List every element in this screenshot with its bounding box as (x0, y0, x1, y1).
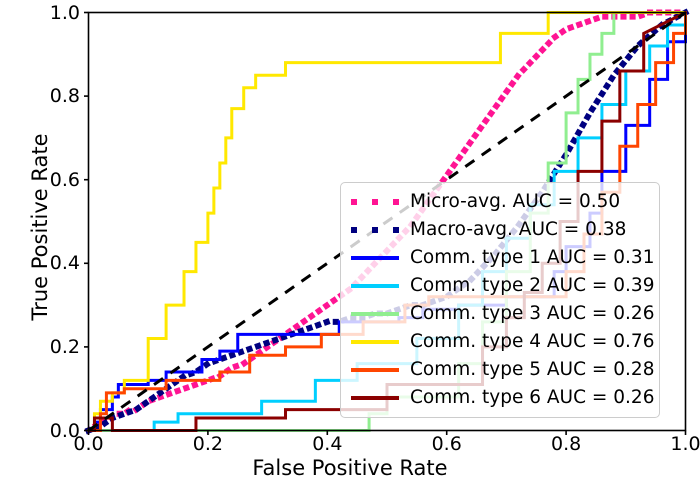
legend-label: Comm. type 3 AUC = 0.26 (410, 305, 654, 323)
y-tick-label: 0.4 (50, 252, 80, 274)
legend-label: Macro-avg. AUC = 0.38 (410, 221, 626, 239)
legend-item-6[interactable]: Comm. type 5 AUC = 0.28 (349, 356, 651, 384)
x-tick-label: 0.6 (432, 433, 462, 455)
y-tick-label: 0.6 (50, 169, 80, 191)
legend-label: Comm. type 6 AUC = 0.26 (410, 389, 654, 407)
legend-swatch-icon (349, 361, 401, 379)
legend-swatch-icon (349, 193, 401, 211)
legend-swatch-icon (349, 389, 401, 407)
x-tick-label: 0.2 (193, 433, 223, 455)
x-tick-label: 1.0 (670, 433, 700, 455)
y-tick-label: 1.0 (50, 2, 80, 24)
legend-item-7[interactable]: Comm. type 6 AUC = 0.26 (349, 384, 651, 412)
legend-swatch-icon (349, 333, 401, 351)
legend-swatch-icon (349, 221, 401, 239)
legend-swatch-icon (349, 249, 401, 267)
x-axis-title: False Positive Rate (0, 456, 700, 480)
legend-label: Micro-avg. AUC = 0.50 (410, 193, 620, 211)
legend-swatch-icon (349, 277, 401, 295)
y-tick-label: 0.8 (50, 85, 80, 107)
legend-label: Comm. type 2 AUC = 0.39 (410, 277, 654, 295)
legend-swatch-icon (349, 305, 401, 323)
legend-item-4[interactable]: Comm. type 3 AUC = 0.26 (349, 300, 651, 328)
legend-label: Comm. type 5 AUC = 0.28 (410, 361, 654, 379)
legend-item-2[interactable]: Comm. type 1 AUC = 0.31 (349, 244, 651, 272)
legend-label: Comm. type 1 AUC = 0.31 (410, 249, 654, 267)
x-tick-label: 0.8 (551, 433, 581, 455)
roc-chart-figure: 0.00.20.40.60.81.0 0.00.20.40.60.81.0 Fa… (0, 0, 700, 500)
y-axis-title: True Positive Rate (28, 77, 52, 377)
y-tick-label: 0.2 (50, 336, 80, 358)
legend-item-1[interactable]: Macro-avg. AUC = 0.38 (349, 216, 651, 244)
chart-legend[interactable]: Micro-avg. AUC = 0.50Macro-avg. AUC = 0.… (340, 182, 660, 418)
legend-item-3[interactable]: Comm. type 2 AUC = 0.39 (349, 272, 651, 300)
legend-label: Comm. type 4 AUC = 0.76 (410, 333, 654, 351)
legend-item-0[interactable]: Micro-avg. AUC = 0.50 (349, 188, 651, 216)
legend-item-5[interactable]: Comm. type 4 AUC = 0.76 (349, 328, 651, 356)
x-tick-label: 0.0 (73, 433, 103, 455)
x-tick-label: 0.4 (312, 433, 342, 455)
